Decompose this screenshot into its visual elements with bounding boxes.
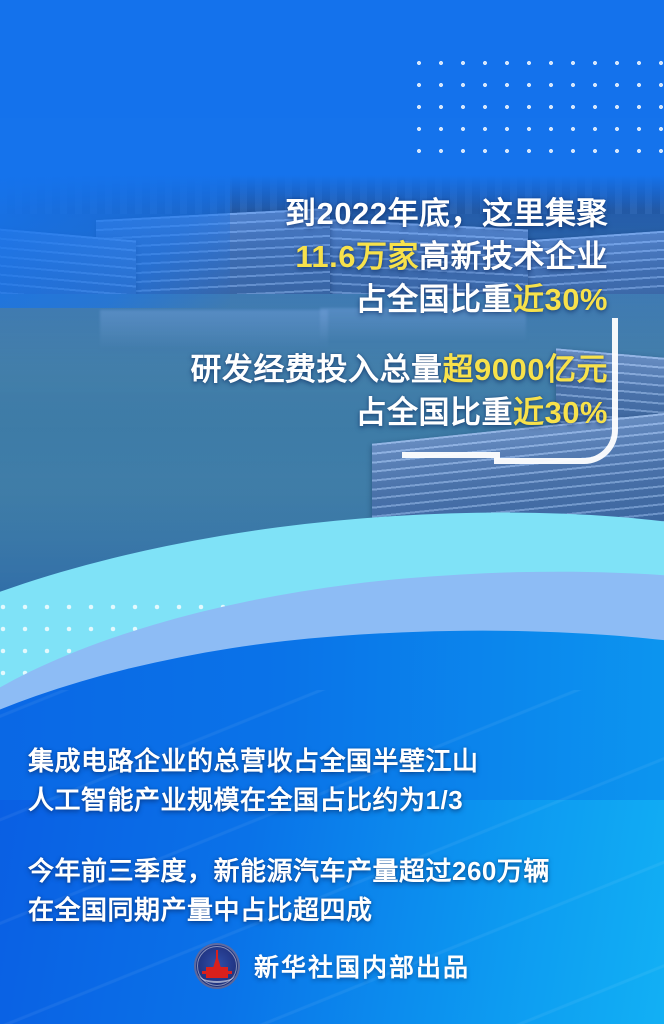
stat-highlight: 超四成 bbox=[293, 895, 373, 925]
footer-credit: 新华社国内部出品 bbox=[254, 948, 470, 984]
stat-text: 在全国同期产量中占比 bbox=[28, 895, 293, 925]
stat-text: 集成电路企业的总营收占全国半壁江山 bbox=[28, 746, 479, 776]
stat-highlight: 约为1/3 bbox=[373, 785, 464, 815]
stat-block-2: 研发经费投入总量超9000亿元占全国比重近30% bbox=[191, 348, 608, 434]
stat-text: 占全国比重 bbox=[355, 282, 513, 317]
stat-block-3: 集成电路企业的总营收占全国半壁江山人工智能产业规模在全国占比约为1/3 bbox=[28, 742, 479, 820]
footer: 新华社国内部出品 bbox=[0, 938, 664, 994]
stat-line: 11.6万家高新技术企业 bbox=[285, 235, 608, 278]
stat-text: 人工智能产业规模在全国占比 bbox=[28, 785, 373, 815]
stat-line: 到2022年底，这里集聚 bbox=[285, 192, 608, 235]
stat-line: 集成电路企业的总营收占全国半壁江山 bbox=[28, 742, 479, 781]
stat-text: 今年前三季度，新能源汽车产量 bbox=[28, 856, 399, 886]
stat-line: 占全国比重近30% bbox=[285, 278, 608, 321]
stat-line: 人工智能产业规模在全国占比约为1/3 bbox=[28, 781, 479, 820]
stat-text: 研发经费投入总量 bbox=[191, 352, 443, 387]
stat-highlight: 近30% bbox=[513, 282, 608, 317]
stat-highlight: 近30% bbox=[513, 395, 608, 430]
dot-grid-top-right bbox=[408, 52, 664, 156]
bracket-accent-tail bbox=[402, 452, 500, 458]
stat-line: 在全国同期产量中占比超四成 bbox=[28, 891, 550, 930]
stat-highlight: 超过260万辆 bbox=[399, 856, 550, 886]
stat-line: 研发经费投入总量超9000亿元 bbox=[191, 348, 608, 391]
xinhua-emblem-icon bbox=[194, 943, 240, 989]
headline-panel-left bbox=[0, 118, 230, 308]
stat-block-4: 今年前三季度，新能源汽车产量超过260万辆在全国同期产量中占比超四成 bbox=[28, 852, 550, 930]
stat-text: 到2022年底，这里集聚 bbox=[285, 196, 608, 231]
stat-highlight: 11.6万家 bbox=[295, 239, 419, 274]
stat-highlight: 超9000亿元 bbox=[443, 352, 608, 387]
stat-line: 今年前三季度，新能源汽车产量超过260万辆 bbox=[28, 852, 550, 891]
emblem-arc-text bbox=[199, 967, 235, 983]
stat-line: 占全国比重近30% bbox=[191, 391, 608, 434]
stat-text: 占全国比重 bbox=[355, 395, 513, 430]
stat-text: 高新技术企业 bbox=[419, 239, 608, 274]
infographic-poster: 到2022年底，这里集聚11.6万家高新技术企业占全国比重近30% 研发经费投入… bbox=[0, 0, 664, 1024]
stat-block-1: 到2022年底，这里集聚11.6万家高新技术企业占全国比重近30% bbox=[285, 192, 608, 321]
